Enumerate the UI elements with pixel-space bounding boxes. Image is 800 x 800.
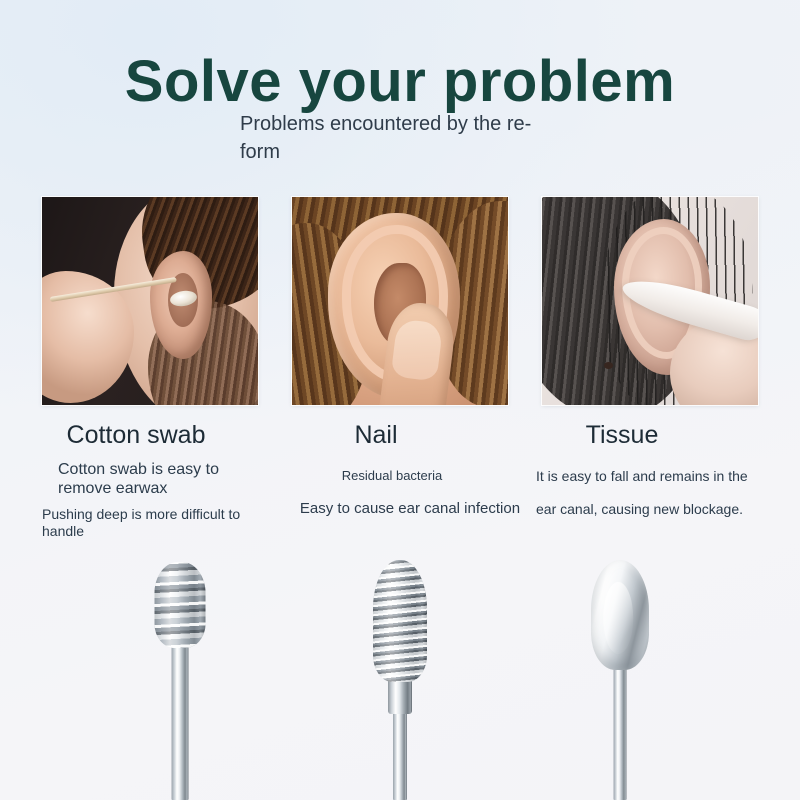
tool-scoop-tip: [560, 548, 680, 800]
caption-line-2: ear canal, causing new blockage.: [536, 501, 764, 518]
tool-shaft: [172, 624, 189, 800]
mole-shape: [604, 362, 613, 369]
tool-shaft: [393, 708, 407, 800]
caption-line-2: Pushing deep is more difficult to handle: [42, 506, 270, 540]
page-subtitle: Problems encountered by the re-form: [240, 110, 570, 166]
photo-nail-art: [292, 197, 508, 405]
caption-line-2: Easy to cause ear canal infection: [294, 500, 526, 518]
photo-tissue: [542, 197, 758, 405]
photo-cotton-swab-art: [42, 197, 258, 405]
caption-tissue: Tissue It is easy to fall and remains in…: [536, 420, 764, 518]
caption-nail: Nail Residual bacteria Easy to cause ear…: [294, 420, 526, 518]
caption-line-1: Cotton swab is easy to remove earwax: [42, 460, 270, 498]
page-title: Solve your problem: [0, 47, 800, 117]
tool-coil-tip: [120, 548, 240, 800]
caption-line-1: Residual bacteria: [294, 468, 526, 484]
scoop-tip-head: [591, 560, 649, 670]
photo-nail: [292, 197, 508, 405]
caption-cotton-swab: Cotton swab Cotton swab is easy to remov…: [42, 420, 270, 540]
problem-photo-row: [42, 197, 758, 405]
tool-spring-tip: [340, 548, 460, 800]
photo-cotton-swab: [42, 197, 258, 405]
product-infographic: Solve your problem Problems encountered …: [0, 0, 800, 800]
spring-tip-head: [373, 560, 427, 682]
caption-heading: Tissue: [536, 420, 764, 450]
photo-tissue-art: [542, 197, 758, 405]
caption-line-1: It is easy to fall and remains in the: [536, 468, 764, 485]
coil-tip-head: [155, 562, 206, 648]
caption-heading: Nail: [294, 420, 526, 450]
scoop-highlight: [603, 582, 633, 654]
caption-heading: Cotton swab: [42, 420, 270, 450]
tool-row: [0, 548, 800, 800]
tool-shaft: [614, 652, 627, 800]
